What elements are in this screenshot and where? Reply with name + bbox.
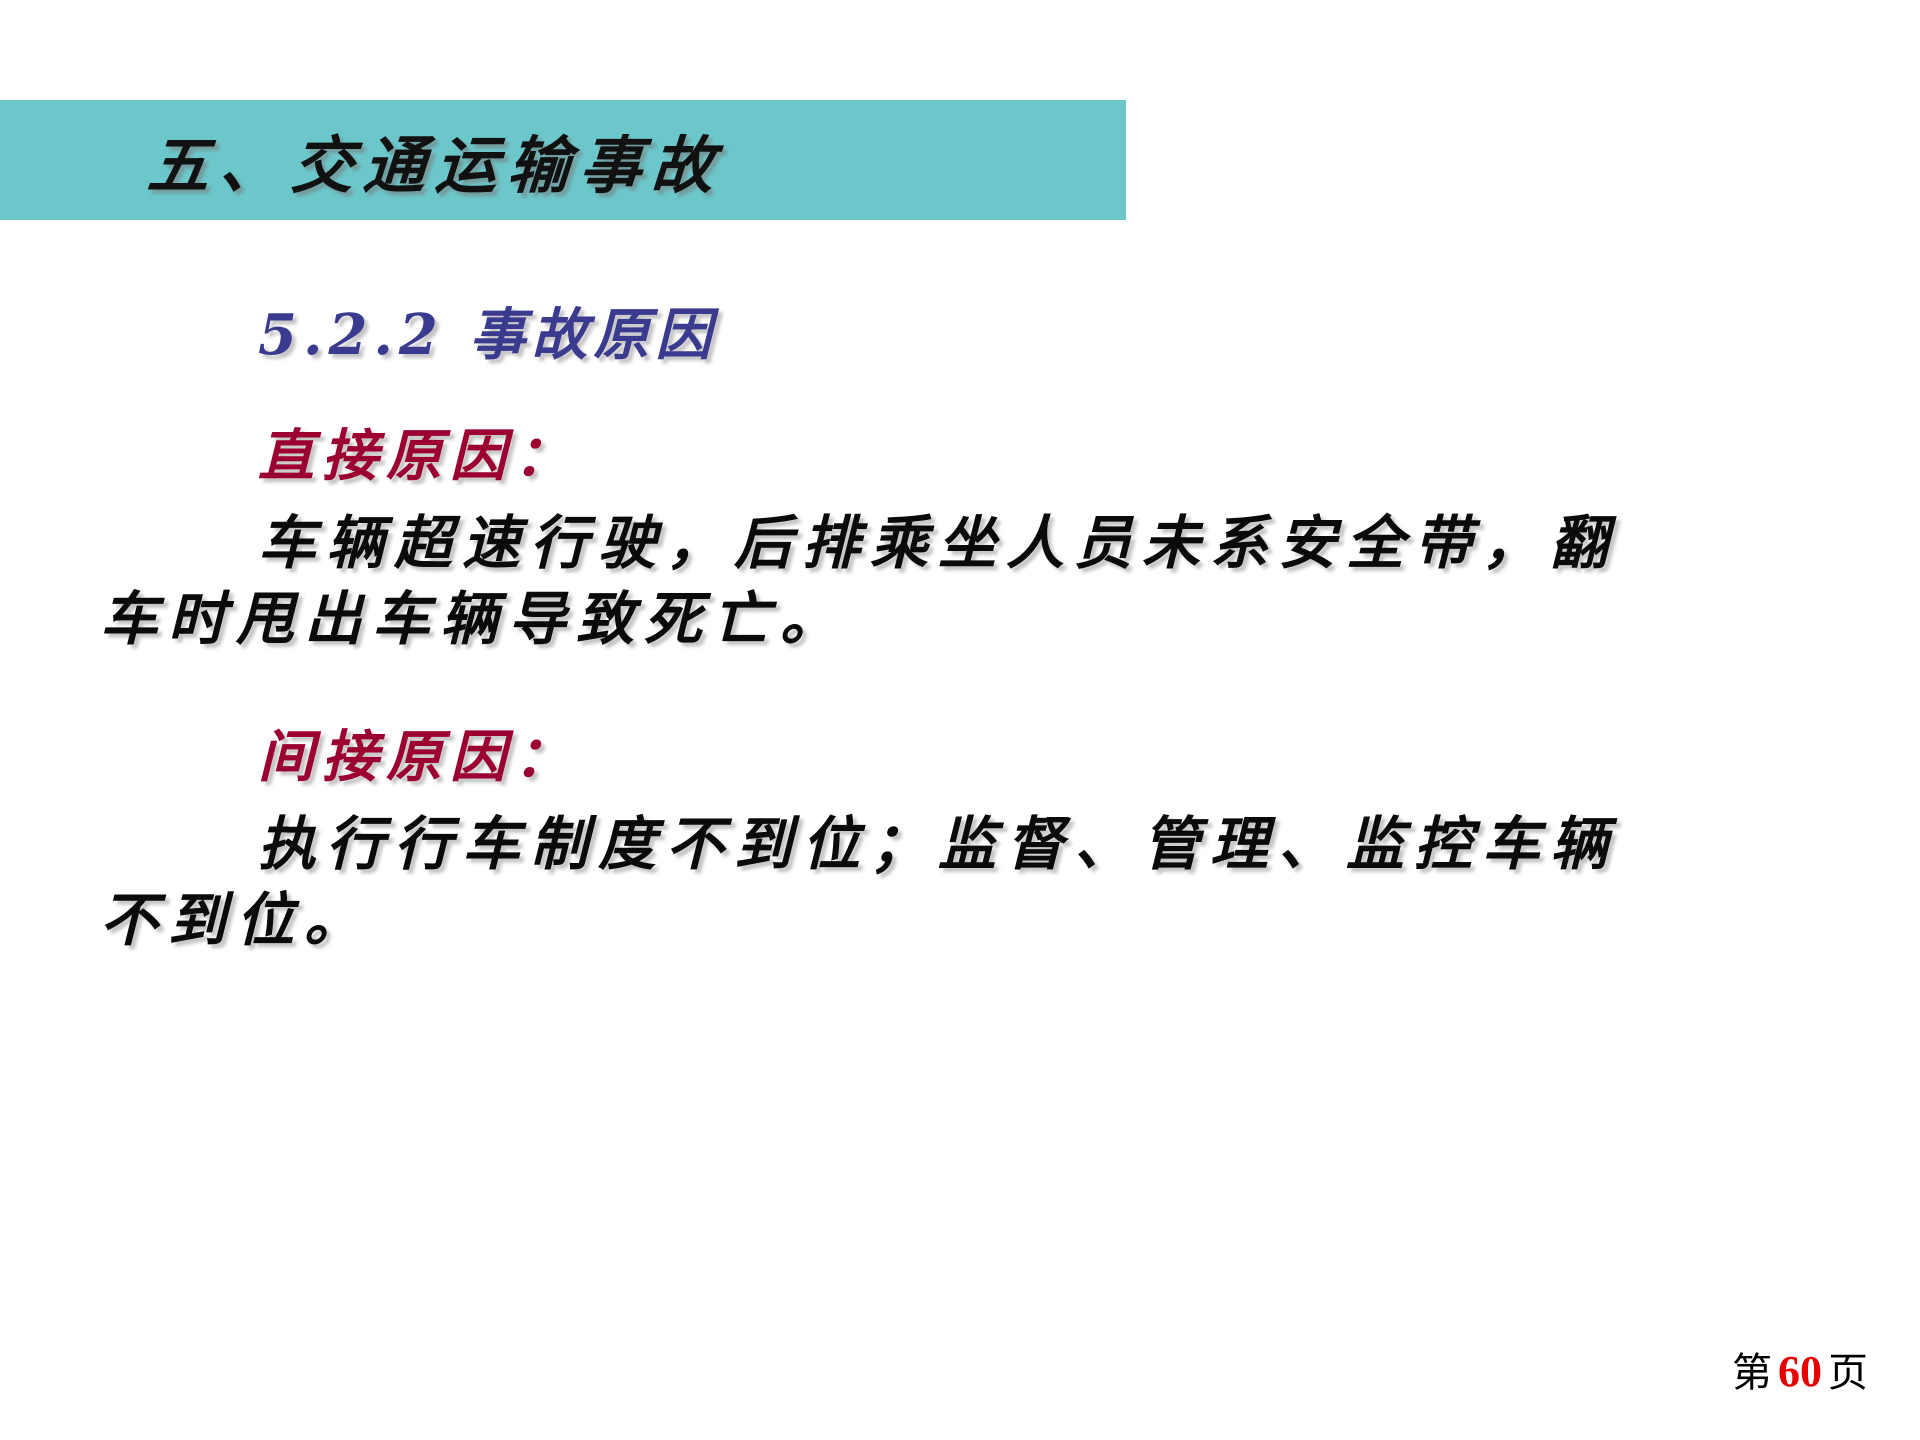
direct-cause-label: 直接原因： xyxy=(258,411,1920,492)
footer-page-number: 60 xyxy=(1772,1347,1828,1396)
indirect-cause-line-1: 执行行车制度不到位；监督、管理、监控车辆 xyxy=(258,815,1920,873)
slide-title-band: 五、交通运输事故 xyxy=(0,100,1126,220)
footer-prefix: 第 xyxy=(1732,1350,1772,1395)
indirect-cause-label: 间接原因： xyxy=(258,712,1920,793)
slide-title: 五、交通运输事故 xyxy=(145,115,727,205)
direct-cause-line-1: 车辆超速行驶，后排乘坐人员未系安全带，翻 xyxy=(258,514,1920,572)
direct-cause-line-2: 车时甩出车辆导致死亡。 xyxy=(100,590,1920,648)
footer-suffix: 页 xyxy=(1828,1350,1868,1395)
paragraph-gap xyxy=(0,666,1920,712)
indirect-cause-line-2: 不到位。 xyxy=(100,891,1920,949)
section-heading: 5.2.2 事故原因 xyxy=(258,290,1920,371)
footer-page-indicator: 第60页 xyxy=(1732,1340,1868,1398)
slide-content: 5.2.2 事故原因 直接原因： 车辆超速行驶，后排乘坐人员未系安全带，翻 车时… xyxy=(0,290,1920,967)
